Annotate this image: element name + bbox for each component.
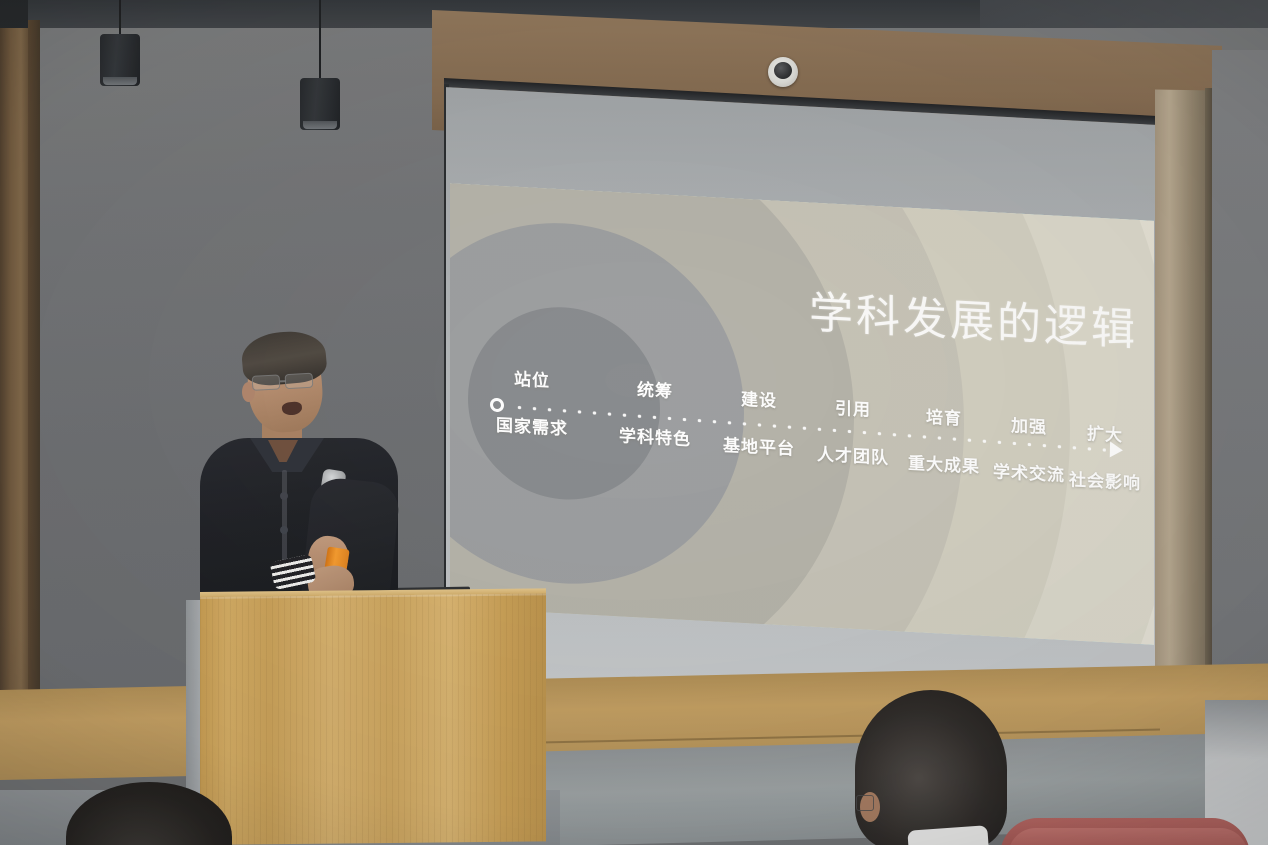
eyeglass-lens-left [252, 374, 281, 390]
stage-top-label: 站位 [472, 362, 592, 393]
far-right-wall [1212, 50, 1268, 750]
pendant-cord [319, 0, 321, 78]
screen-surface: 学科发展的逻辑 站位 国家需求 统筹 学科特色 建设 基地平台 [446, 87, 1212, 724]
dome-camera-icon [768, 57, 798, 87]
stage-bottom-label: 人才团队 [802, 439, 904, 469]
podium [200, 593, 546, 845]
stage-top-label: 扩大 [1058, 418, 1152, 448]
presenter [186, 330, 416, 620]
left-column-edge [28, 20, 40, 740]
eyeglass-lens-right [285, 373, 314, 389]
camera-dome-lens [774, 62, 792, 79]
pendant-lamp-lens [103, 77, 137, 85]
jacket-button-1 [280, 492, 288, 500]
slide-stage-7: 扩大 社会影响 [1058, 418, 1152, 495]
stage-bottom-label: 社会影响 [1058, 465, 1152, 495]
stage-top-label: 统筹 [600, 373, 710, 404]
stage-bottom-label: 基地平台 [708, 430, 810, 460]
projection-screen: 学科发展的逻辑 站位 国家需求 统筹 学科特色 建设 基地平台 [444, 78, 1214, 734]
stage-top-label: 培育 [894, 401, 994, 431]
slide-stage-5: 培育 重大成果 [894, 401, 994, 478]
slide-stage-3: 建设 基地平台 [708, 383, 810, 460]
slide-stage-1: 站位 国家需求 [472, 362, 592, 440]
audience-member-right [855, 690, 1007, 845]
slide-stage-2: 统筹 学科特色 [600, 373, 710, 451]
presenter-placket [282, 470, 287, 562]
pendant-cord [119, 0, 121, 34]
audience-right-glasses-icon [856, 795, 874, 811]
stage-bottom-label: 重大成果 [894, 448, 994, 478]
pendant-light-1 [100, 0, 140, 108]
pendant-lamp-body [100, 34, 140, 86]
lecture-hall-photo: 学科发展的逻辑 站位 国家需求 统筹 学科特色 建设 基地平台 [0, 0, 1268, 845]
stage-top-label: 引用 [802, 392, 904, 422]
pendant-light-2 [300, 0, 340, 132]
stage-top-label: 建设 [708, 383, 810, 413]
left-wood-column [0, 28, 30, 728]
jacket-button-2 [280, 526, 288, 534]
slide-stage-4: 引用 人才团队 [802, 392, 904, 469]
pendant-lamp-lens [303, 121, 337, 129]
presentation-slide: 学科发展的逻辑 站位 国家需求 统筹 学科特色 建设 基地平台 [450, 183, 1154, 645]
audience-chair-cushion [1008, 828, 1248, 845]
podium-wood-grain [200, 593, 546, 845]
pendant-lamp-body [300, 78, 340, 130]
